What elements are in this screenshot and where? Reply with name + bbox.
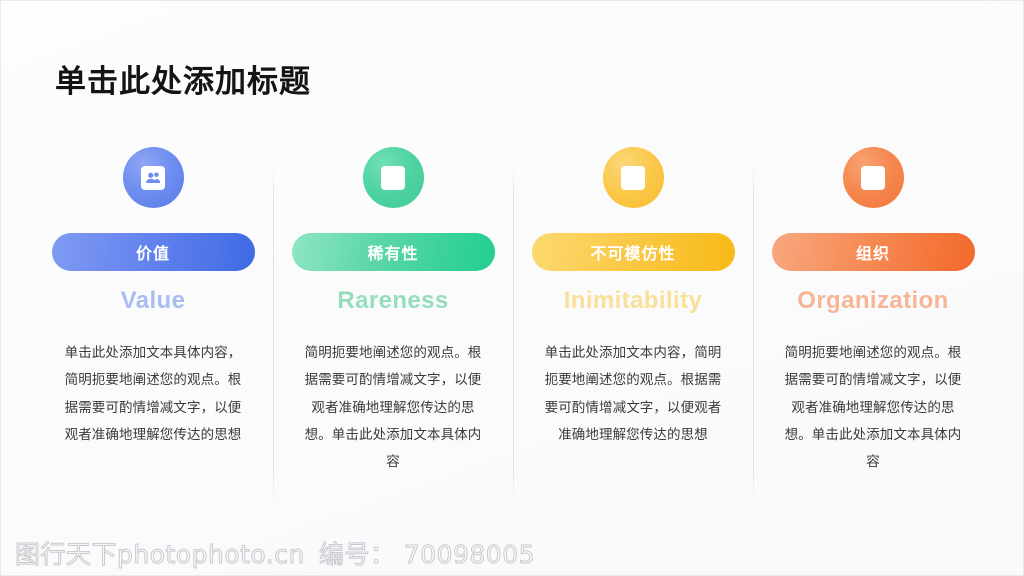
badge-inimitability[interactable]: 不可模仿性 <box>532 233 735 271</box>
badge-rareness[interactable]: 稀有性 <box>292 233 495 271</box>
badge-organization-label: 组织 <box>856 240 890 264</box>
badge-value-label: 价值 <box>136 240 170 264</box>
slide-canvas: 单击此处添加标题 价值 Value <box>0 0 1024 576</box>
icon-circle-inimitability <box>603 147 664 208</box>
column-rareness[interactable]: 稀有性 Rareness 简明扼要地阐述您的观点。根据需要可酌情增减文字，以便观… <box>273 141 513 516</box>
icon-wrap-value <box>123 147 184 208</box>
badge-organization[interactable]: 组织 <box>772 233 975 271</box>
icon-wrap-rareness <box>363 147 424 208</box>
column-organization[interactable]: 组织 Organization 简明扼要地阐述您的观点。根据需要可酌情增减文字，… <box>753 141 993 516</box>
body-text-value: 单击此处添加文本具体内容，简明扼要地阐述您的观点。根据需要可酌情增减文字，以便观… <box>59 340 247 449</box>
square-icon <box>621 166 645 190</box>
square-icon <box>381 166 405 190</box>
badge-rareness-label: 稀有性 <box>367 240 418 264</box>
column-value[interactable]: 价值 Value 单击此处添加文本具体内容，简明扼要地阐述您的观点。根据需要可酌… <box>33 141 273 516</box>
columns-container: 价值 Value 单击此处添加文本具体内容，简明扼要地阐述您的观点。根据需要可酌… <box>33 141 993 516</box>
page-title: 单击此处添加标题 <box>55 63 311 100</box>
users-icon <box>141 166 165 190</box>
icon-circle-organization <box>843 147 904 208</box>
icon-circle-value <box>123 147 184 208</box>
column-inimitability[interactable]: 不可模仿性 Inimitability 单击此处添加文本内容，简明扼要地阐述您的… <box>513 141 753 516</box>
watermark: 图行天下photophoto.cn编号： 70098005 <box>15 542 535 567</box>
watermark-site: 图行天下photophoto.cn <box>15 540 305 569</box>
english-label-organization: Organization <box>797 289 948 313</box>
body-text-inimitability: 单击此处添加文本内容，简明扼要地阐述您的观点。根据需要可酌情增减文字，以便观者准… <box>539 340 727 449</box>
english-label-rareness: Rareness <box>337 289 448 313</box>
watermark-id: 编号： 70098005 <box>319 540 535 569</box>
badge-value[interactable]: 价值 <box>52 233 255 271</box>
square-icon <box>861 166 885 190</box>
body-text-rareness: 简明扼要地阐述您的观点。根据需要可酌情增减文字，以便观者准确地理解您传达的思想。… <box>299 340 487 476</box>
icon-wrap-organization <box>843 147 904 208</box>
english-label-value: Value <box>121 289 186 313</box>
badge-inimitability-label: 不可模仿性 <box>590 240 675 264</box>
icon-circle-rareness <box>363 147 424 208</box>
english-label-inimitability: Inimitability <box>564 289 703 313</box>
body-text-organization: 简明扼要地阐述您的观点。根据需要可酌情增减文字，以便观者准确地理解您传达的思想。… <box>779 340 967 476</box>
icon-wrap-inimitability <box>603 147 664 208</box>
